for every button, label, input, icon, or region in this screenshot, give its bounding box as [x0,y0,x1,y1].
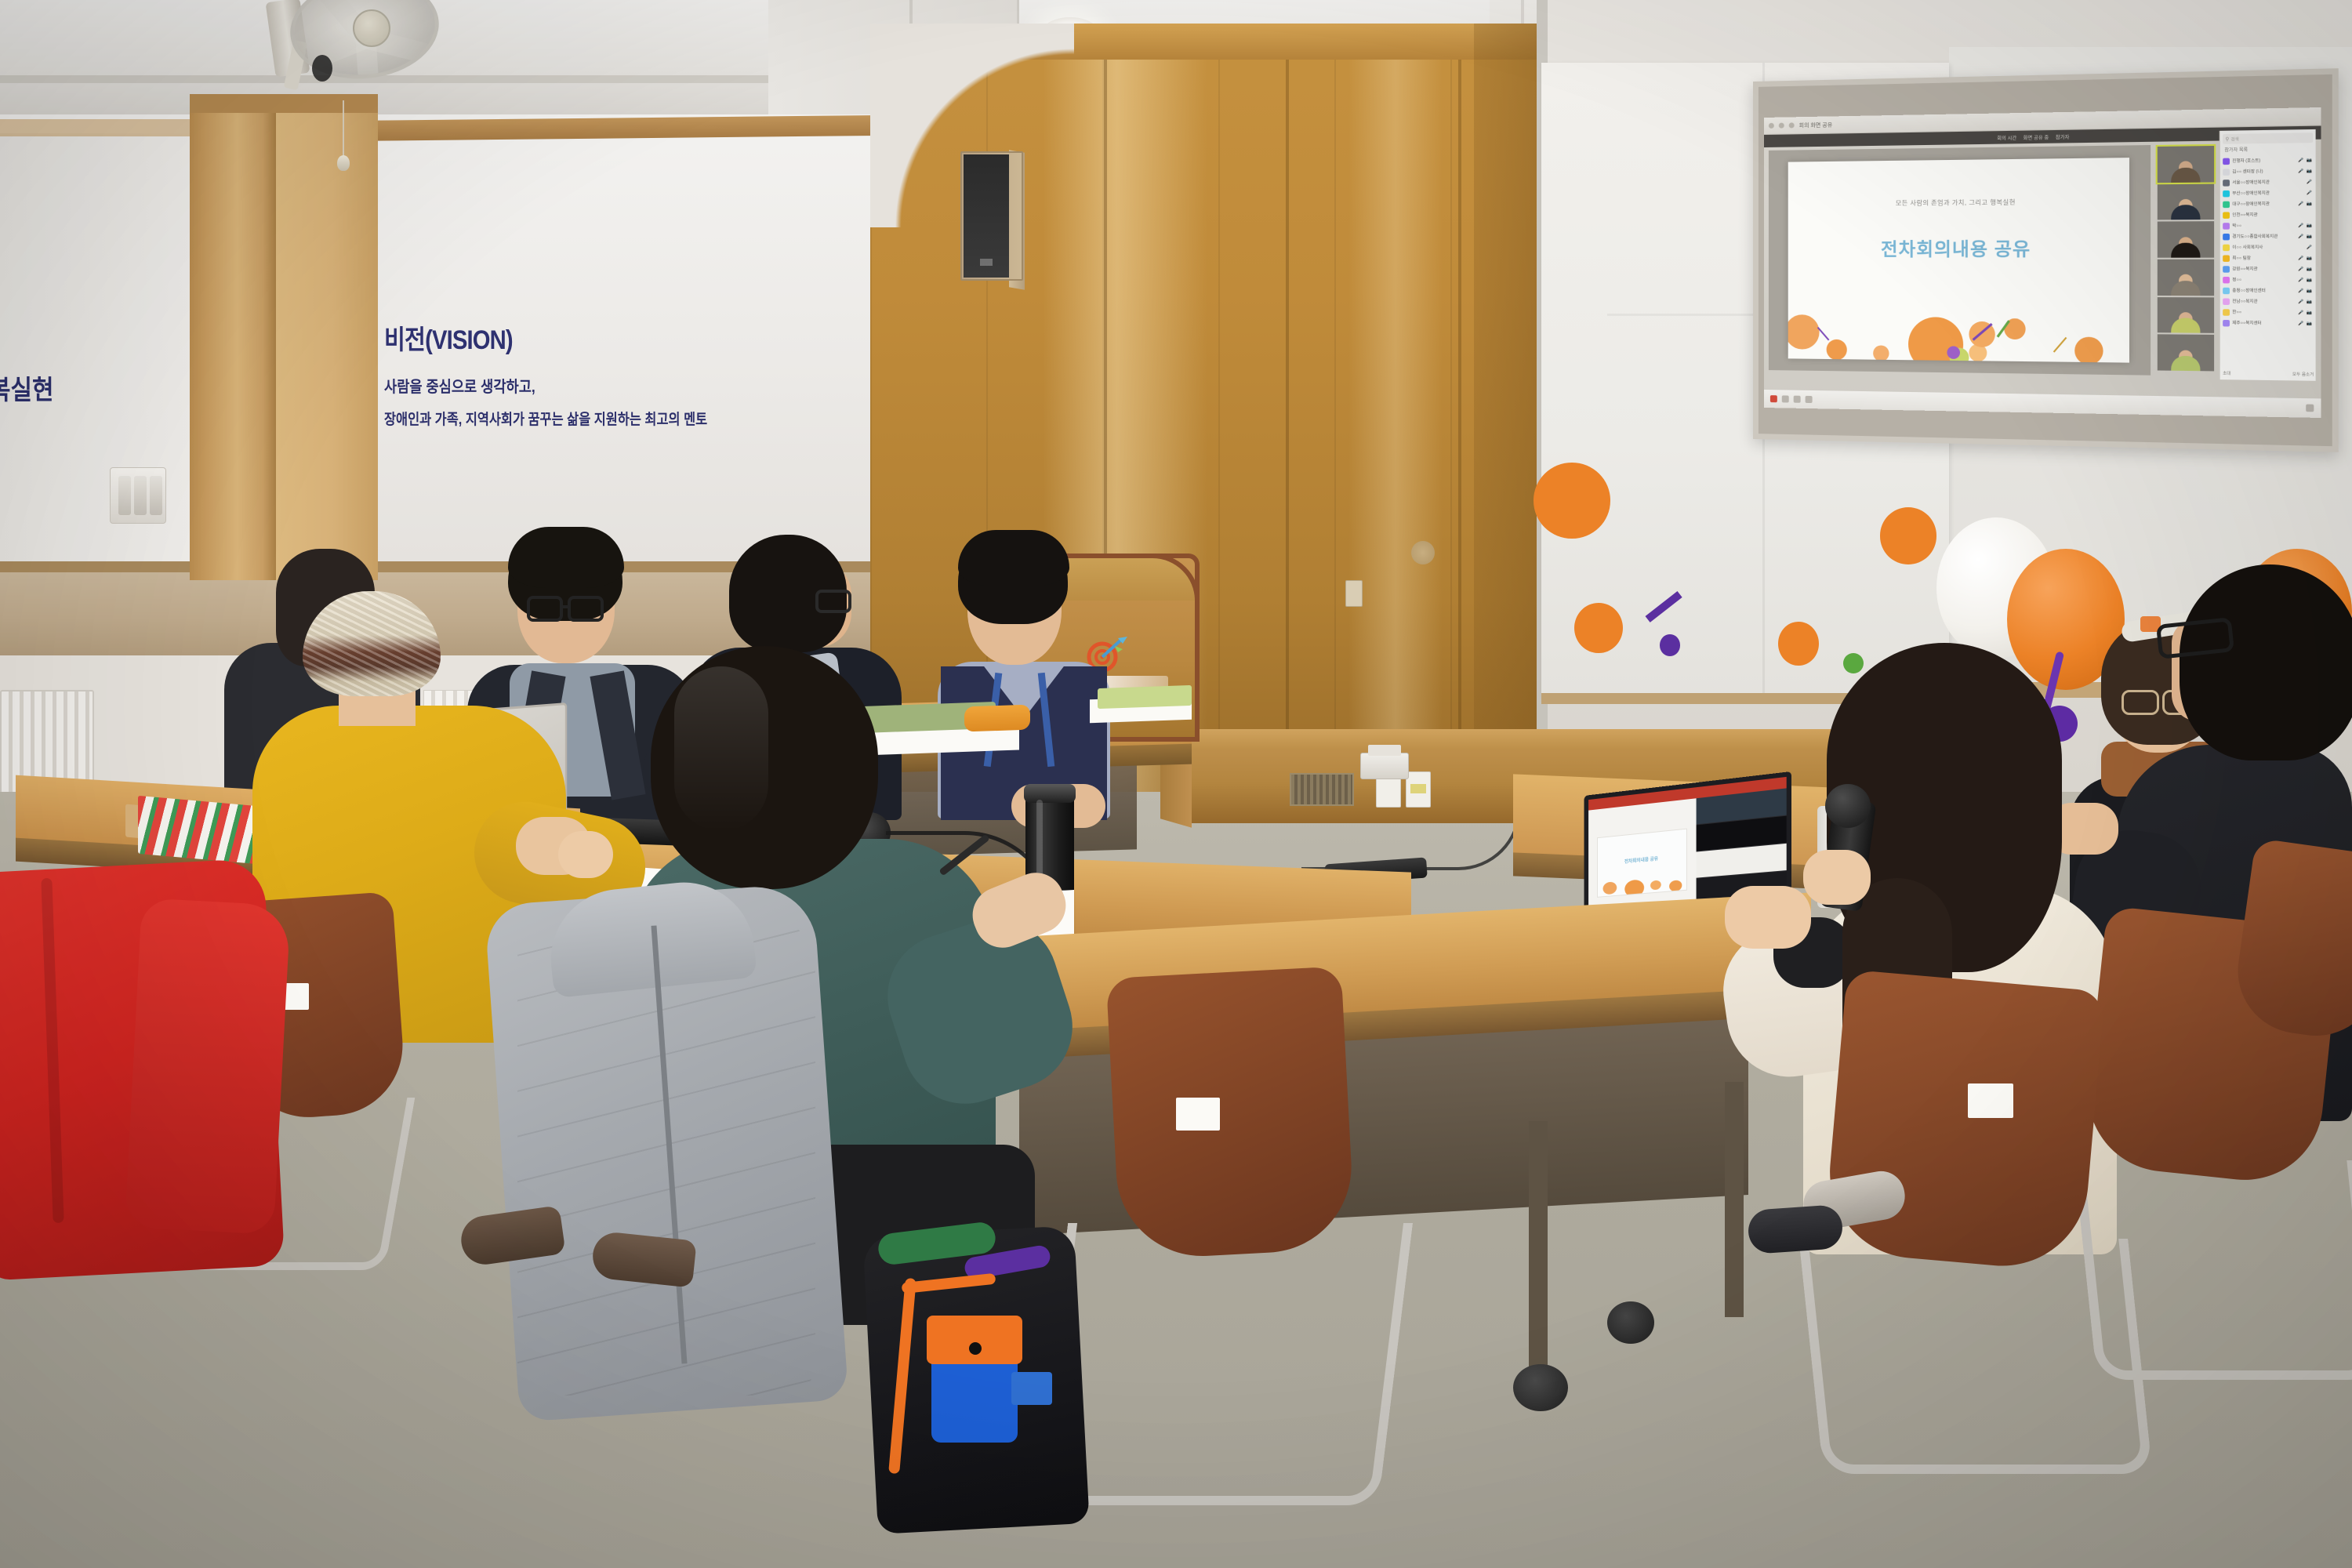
participant-name: 최○○ 팀장 [2232,255,2296,260]
video-thumbnail[interactable] [2158,260,2214,296]
participant-name: 이○○ 사회복지사 [2232,245,2303,251]
speaker-logo [980,259,993,266]
switch-rocker[interactable] [134,476,147,515]
outlet-label [1410,784,1426,793]
participant-status-icons: 🎤 📷 [2298,289,2313,293]
participant-name: 박○○ [2232,223,2296,229]
participant-avatar [2223,169,2230,176]
participant-row[interactable]: 부산○○장애인복지관🎤 [2223,187,2313,199]
glasses-icon [527,596,563,622]
participant-status-icons: 🎤 [2307,245,2313,249]
participant-status-icons: 🎤 [2307,191,2313,195]
glasses-bridge [563,605,571,608]
video-thumbnail[interactable] [2158,183,2214,220]
participant-name: 제주○○복지센터 [2232,320,2296,326]
participant-avatar [2223,212,2230,219]
participant-avatar [2223,298,2230,305]
participants-panel[interactable]: ⚲ 검색 참가자 목록 진행자 (호스트)🎤 📷김○○ 센터장 (나)🎤 📷서울… [2220,129,2316,381]
window-dot [1779,123,1784,129]
participants-list[interactable]: 진행자 (호스트)🎤 📷김○○ 센터장 (나)🎤 📷서울○○장애인복지관🎤부산○… [2223,154,2313,328]
participants-header: 참가자 목록 [2224,145,2313,153]
video-thumbnail[interactable] [2158,335,2214,372]
participant-row[interactable]: 충청○○장애인센터🎤 📷 [2223,285,2313,296]
participants-label: 참가자 [2056,132,2070,140]
participant-status-icons: 🎤 📷 [2298,278,2313,282]
person-blazer-hair-front [508,527,624,588]
participant-row[interactable]: 박○○🎤 📷 [2223,220,2313,230]
participant-status-icons: 🎤 📷 [2298,321,2313,326]
wall-trim [0,119,191,136]
participant-row[interactable]: 제주○○복지센터🎤 📷 [2223,318,2313,329]
participant-row[interactable]: 최○○ 팀장🎤 📷 [2223,252,2313,263]
video-thumbnail[interactable] [2158,146,2214,183]
banner-dot-green [1843,653,1864,673]
video-thumbnail[interactable] [2158,222,2214,258]
hanging-string [343,100,344,157]
window-dot [1789,122,1795,128]
participant-avatar [2223,309,2230,316]
participant-row[interactable]: 진행자 (호스트)🎤 📷 [2223,154,2313,166]
participant-avatar [2223,201,2230,208]
person-cream-sweater-hand [1803,850,1871,905]
participant-status-icons: 🎤 📷 [2298,201,2313,206]
backpack-button [969,1342,982,1355]
table-caster-wheel [1513,1364,1568,1411]
wood-panel-seam [1286,60,1289,792]
participant-row[interactable]: 한○○🎤 📷 [2223,307,2313,318]
floor-vent [1290,773,1354,806]
glasses-icon [2122,690,2159,715]
chair-backrest[interactable] [1823,969,2105,1272]
participant-status-icons: 🎤 📷 [2298,256,2313,260]
sharing-status: 화면 공유 중 [2024,133,2049,141]
start-menu-icon[interactable] [1770,395,1777,402]
participant-avatar [2223,244,2230,250]
system-tray-icon[interactable] [2306,405,2314,412]
fan-hub [353,9,390,47]
wall-sign-partial: 복실현 [0,368,54,407]
wood-column-cap [190,94,378,113]
backpack-label [1011,1372,1052,1405]
switch-rocker[interactable] [150,476,162,515]
participant-name: 대구○○장애인복지관 [2232,201,2296,207]
participant-name: 서울○○장애인복지관 [2232,179,2303,185]
participant-status-icons: 🎤 📷 [2298,267,2313,271]
banner-circle [1778,622,1819,666]
red-coat-sleeve [125,898,291,1234]
participant-row[interactable]: 정○○🎤 📷 [2223,274,2313,285]
fan-knob [312,55,332,82]
participant-name: 인천○○복지관 [2232,212,2310,218]
vision-title: 비전(VISION) [384,318,802,357]
smoke-detector-icon [1411,541,1435,564]
participant-avatar [2223,158,2230,165]
participant-avatar [2223,255,2230,261]
person-yellow-hand [558,831,613,878]
invite-button[interactable]: 초대 [2223,371,2230,377]
participant-status-icons: 🎤 📷 [2298,299,2313,303]
participant-status-icons: 🎤 📷 [2298,223,2313,227]
participant-name: 김○○ 센터장 (나) [2232,168,2296,174]
wall-highlight [1348,24,1443,792]
table-leg [1725,1082,1744,1317]
person-cream-sweater-hand [1725,886,1811,949]
window-title: 회의 화면 공유 [1799,121,1833,129]
backpack-flap-orange [927,1316,1022,1364]
vision-line-2: 장애인과 가족, 지역사회가 꿈꾸는 삶을 지원하는 최고의 멘토 [384,408,802,429]
participant-name: 경기도○○종합사회복지관 [2232,234,2296,240]
conference-room-photo: 복실현 비전(VISION) 사람을 중심으로 생각하고, 장애인과 가족, 지… [0,0,2352,1568]
participant-name: 한○○ [2232,309,2296,315]
participant-row[interactable]: 김○○ 센터장 (나)🎤 📷 [2223,165,2313,177]
participant-avatar [2223,266,2230,272]
banner-line-purple [1646,591,1682,622]
participant-avatar [2223,287,2230,293]
vision-line-1: 사람을 중심으로 생각하고, [384,374,812,397]
participant-row[interactable]: 서울○○장애인복지관🎤 [2223,176,2313,188]
slide-subtitle: 모든 사람의 존엄과 가치, 그리고 행복실현 [1788,197,2129,208]
participant-row[interactable]: 이○○ 사회복지사🎤 [2223,241,2313,252]
meeting-time: 회의 시간 [1997,133,2016,141]
banner-dot-purple [1660,634,1680,656]
video-thumbnail[interactable] [2158,297,2214,333]
participant-status-icons: 🎤 📷 [2298,169,2313,174]
banner-circle [1574,603,1623,654]
chair-label-tag [1176,1098,1220,1131]
person-black-sweater-hair [2180,564,2352,760]
vision-statement-sign: 비전(VISION) 사람을 중심으로 생각하고, 장애인과 가족, 지역사회가… [384,318,870,429]
participant-avatar [2223,180,2230,187]
presentation-slide: 모든 사람의 존엄과 가치, 그리고 행복실현 전차회의내용 공유 [1788,158,2129,363]
banner-circle [1534,463,1611,539]
participant-name: 충청○○장애인센터 [2232,288,2296,294]
chair-label-tag [1968,1083,2013,1118]
participant-avatar [2223,190,2230,197]
taskbar-icon[interactable] [1782,395,1789,402]
participant-status-icons: 🎤 📷 [2298,158,2313,163]
wood-panel-seam [1458,60,1461,792]
participant-status-icons: 🎤 [2307,180,2313,184]
participant-name: 정○○ [2232,277,2296,283]
participant-row[interactable]: 인천○○복지관 [2223,209,2313,220]
laptop-slide: 전차회의내용 공유 [1597,829,1687,897]
participant-name: 부산○○장애인복지관 [2232,190,2303,196]
hair-highlight [674,666,768,831]
tumbler-cap [1024,784,1076,803]
notebook [1098,685,1192,709]
participant-row[interactable]: 대구○○장애인복지관🎤 📷 [2223,198,2313,210]
shoe [1747,1204,1844,1254]
chair-frame [1798,1239,2153,1474]
participant-avatar [2223,223,2230,230]
table-caster-wheel [1607,1301,1654,1344]
hanging-bob [337,155,350,171]
participant-avatar [2223,233,2230,239]
participant-row[interactable]: 전남○○복지관🎤 📷 [2223,296,2313,307]
participant-avatar [2223,276,2230,282]
taskbar-icon[interactable] [1794,396,1801,403]
participant-row[interactable]: 강원○○복지관🎤 📷 [2223,263,2313,274]
participant-name: 전남○○복지관 [2232,299,2296,305]
participant-name: 강원○○복지관 [2232,266,2296,272]
banner-circle [1880,507,1937,564]
participant-video-filmstrip[interactable] [2158,146,2214,371]
participant-status-icons: 🎤 📷 [2298,310,2313,315]
participant-avatar [2223,319,2230,326]
wood-column-face [276,99,378,580]
participant-name: 진행자 (호스트) [2232,158,2296,164]
search-icon: ⚲ [2225,136,2229,142]
switch-rocker[interactable] [118,476,131,515]
table-leg [1529,1121,1548,1372]
participants-footer[interactable]: 초대 모두 음소거 [2223,371,2314,378]
participants-search-input[interactable]: ⚲ 검색 [2223,132,2313,143]
glasses-icon [568,596,604,622]
chair-frame [1033,1223,1413,1505]
projected-computer-screen[interactable]: 회의 화면 공유 회의 시간 화면 공유 중 참가자 모든 사람의 존엄과 가치… [1764,107,2321,418]
search-placeholder: 검색 [2231,136,2239,142]
shared-screen-area: 모든 사람의 존엄과 가치, 그리고 행복실현 전차회의내용 공유 [1769,145,2151,376]
slide-title: 전차회의내용 공유 [1788,233,2129,261]
chair-backrest[interactable] [1106,966,1356,1260]
participant-status-icons: 🎤 📷 [2298,234,2313,238]
wall-outlet[interactable] [1345,580,1363,607]
glasses-icon [815,590,851,613]
snack-item [964,705,1030,732]
wood-column [190,94,276,580]
window-dot [1769,123,1774,129]
pc-window: 회의 화면 공유 회의 시간 화면 공유 중 참가자 모든 사람의 존엄과 가치… [1764,107,2321,418]
taskbar-icon[interactable] [1806,396,1813,403]
participant-row[interactable]: 경기도○○종합사회복지관🎤 📷 [2223,230,2313,241]
mute-all-button[interactable]: 모두 음소거 [2292,372,2314,378]
av-device [1360,753,1409,779]
person-vest-hair-front [958,530,1069,586]
microphone-head [1825,784,1871,828]
slide-decoration [1788,288,2129,363]
av-device-top [1368,745,1401,756]
light-switch-plate[interactable] [110,467,166,524]
